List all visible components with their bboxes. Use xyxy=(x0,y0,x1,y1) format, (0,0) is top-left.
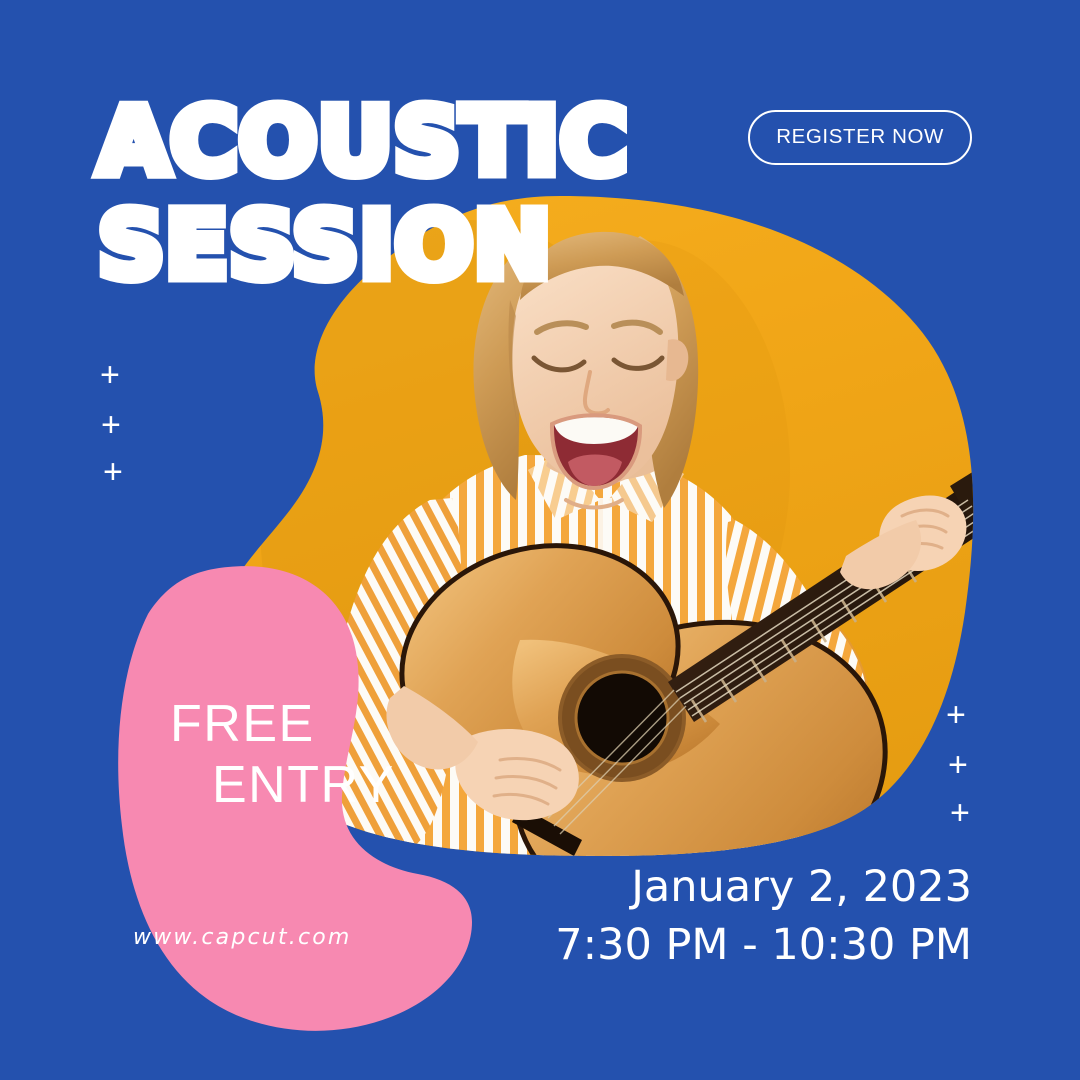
register-now-button[interactable]: REGISTER NOW xyxy=(748,110,972,165)
poster-canvas: ACOUSTIC SESSION REGISTER NOW FREE ENTRY… xyxy=(0,0,1080,1080)
plus-icon: + xyxy=(946,698,966,732)
page-title: ACOUSTIC SESSION xyxy=(98,98,628,291)
plus-icon: + xyxy=(948,748,968,782)
website-url[interactable]: www.capcut.com xyxy=(133,925,352,950)
free-entry-line-1: FREE xyxy=(160,694,395,755)
plus-icon: + xyxy=(103,455,123,489)
plus-icon: + xyxy=(101,408,121,442)
event-time: 7:30 PM - 10:30 PM xyxy=(555,916,972,974)
event-date: January 2, 2023 xyxy=(555,858,972,916)
title-line-1: ACOUSTIC xyxy=(98,98,628,186)
title-line-2: SESSION xyxy=(98,202,628,290)
free-entry-badge: FREE ENTRY xyxy=(160,694,395,816)
free-entry-line-2: ENTRY xyxy=(160,755,395,816)
event-datetime: January 2, 2023 7:30 PM - 10:30 PM xyxy=(555,858,972,974)
plus-icon: + xyxy=(100,358,120,392)
plus-icon: + xyxy=(950,796,970,830)
